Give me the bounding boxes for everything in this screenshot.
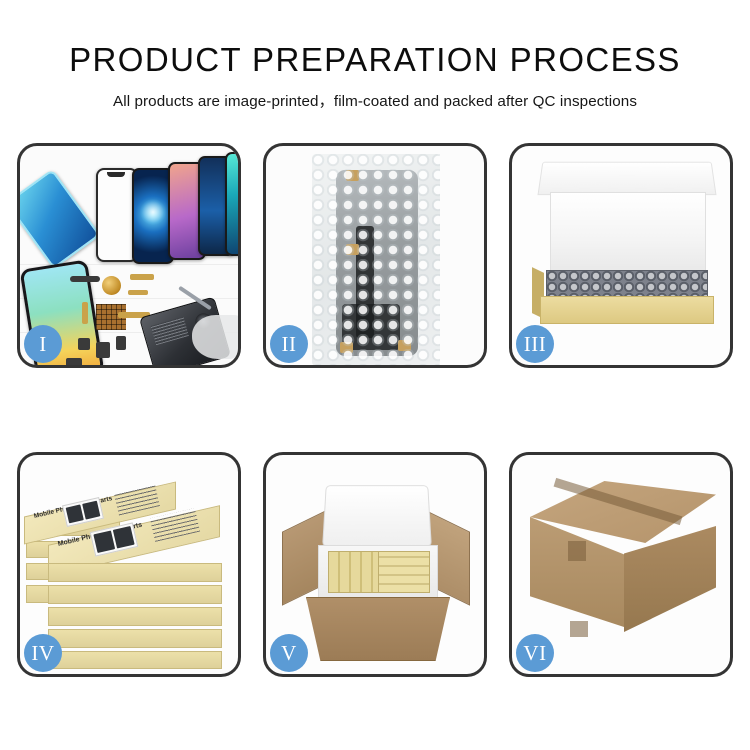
process-step-6[interactable]: VI — [509, 452, 733, 677]
foam-cooler-lid — [322, 485, 432, 547]
speaker-part — [96, 342, 110, 358]
bubble-wrap-bag — [312, 154, 440, 365]
stacked-box — [48, 651, 222, 669]
small-chip-part — [66, 358, 82, 365]
white-foam-sheet — [550, 192, 706, 272]
camera-module-part — [116, 336, 126, 350]
stacked-box — [48, 585, 222, 604]
technician-hand — [192, 315, 238, 359]
process-step-4[interactable]: Mobile Phone Spare Parts Mobile Phone Sp… — [17, 452, 241, 677]
step-badge-2: II — [270, 325, 308, 363]
page-subtitle: All products are image-printed，film-coat… — [0, 78, 750, 111]
stacked-box — [48, 607, 222, 626]
page-title: PRODUCT PREPARATION PROCESS — [0, 0, 750, 78]
connector-part — [70, 276, 100, 282]
teal-phone — [225, 152, 238, 256]
blue-phone-back — [20, 169, 101, 269]
carton-right-face — [624, 526, 716, 632]
page-header: PRODUCT PREPARATION PROCESS All products… — [0, 0, 750, 111]
box-front-panel — [540, 296, 714, 324]
flex-cable-part — [82, 302, 88, 324]
step-badge-6: VI — [516, 634, 554, 672]
flex-cable-part — [130, 274, 154, 280]
process-step-5[interactable]: V — [263, 452, 487, 677]
process-step-3[interactable]: III — [509, 143, 733, 368]
carton-tape-tab-lower — [570, 621, 588, 637]
box-lid — [537, 162, 716, 195]
stacked-box — [48, 629, 222, 648]
process-step-grid: I II III — [17, 143, 733, 677]
step-badge-5: V — [270, 634, 308, 672]
packed-boxes-right — [378, 551, 430, 593]
stacked-box — [48, 563, 222, 582]
process-step-2[interactable]: II — [263, 143, 487, 368]
process-step-1[interactable]: I — [17, 143, 241, 368]
step-badge-3: III — [516, 325, 554, 363]
carton-tape-tab-upper — [568, 541, 586, 561]
step-badge-4: IV — [24, 634, 62, 672]
flex-cable-part — [128, 290, 148, 295]
step-badge-1: I — [24, 325, 62, 363]
bubble-texture — [312, 154, 440, 365]
ic-chip-part — [78, 338, 90, 350]
carton-body — [306, 597, 450, 661]
copper-coil-part — [102, 276, 121, 295]
